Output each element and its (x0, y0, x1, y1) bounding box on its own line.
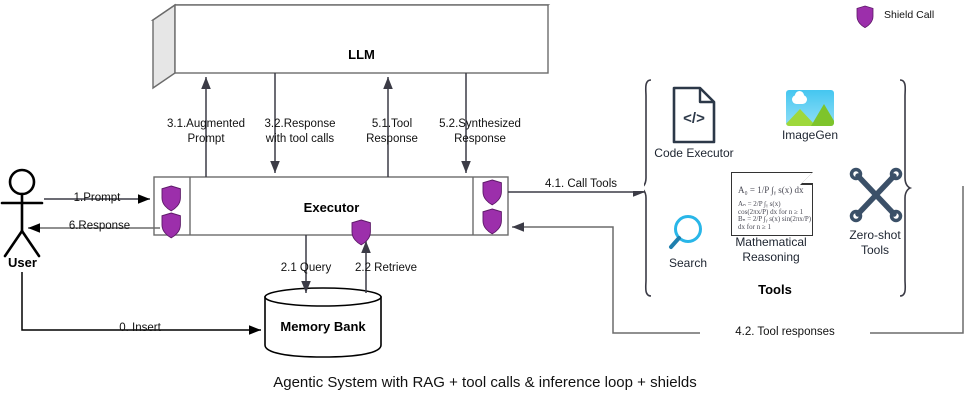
magnifier-icon[interactable] (671, 217, 701, 248)
shield-icon-retrieve[interactable] (352, 220, 370, 245)
page-fold-inner (802, 172, 813, 183)
math-formula-2: Aₙ = 2/P ∫ᵧ s(x) cos(2πx/P) dx for n ≥ 1 (738, 200, 812, 216)
llm-label: LLM (175, 47, 548, 62)
code-document-icon[interactable]: </> (674, 88, 714, 142)
executor-label: Executor (190, 200, 473, 215)
tool-label-code-executor: Code Executor (644, 146, 744, 160)
edge-label-tool-responses: 4.2. Tool responses (700, 326, 870, 339)
math-page-icon[interactable]: A₀ = 1/P ∫ᵧ s(x) dx Aₙ = 2/P ∫ᵧ s(x) cos… (731, 172, 813, 236)
edge-label-call-tools: 4.1. Call Tools (518, 178, 644, 191)
tool-label-math-2: Reasoning (721, 250, 821, 264)
edge-label-synth-2: Response (416, 133, 544, 146)
user-label: User (0, 255, 45, 270)
shield-icon-legend (857, 6, 873, 28)
edge-label-synth-1: 5.2.Synthesized (416, 118, 544, 131)
math-formula-3: Bₙ = 2/P ∫ᵧ s(x) sin(2πx/P) dx for n ≥ 1 (738, 215, 812, 231)
edge-label-response: 6.Response (42, 220, 157, 233)
user-actor[interactable] (2, 170, 42, 256)
memory-bank-label: Memory Bank (265, 319, 381, 334)
svg-text:</>: </> (683, 110, 705, 127)
cloud-shape (792, 95, 807, 104)
edge-label-insert: 0. Insert (60, 322, 220, 335)
legend-shield-label: Shield Call (884, 9, 934, 21)
tool-label-search: Search (648, 256, 728, 270)
tool-label-math-1: Mathematical (721, 235, 821, 249)
diagram-canvas: </> (0, 0, 970, 411)
tool-label-imagegen: ImageGen (760, 128, 860, 142)
tools-group-label: Tools (700, 282, 850, 297)
tools-brace-right (900, 80, 910, 296)
tool-label-zeroshot-1: Zero-shot (832, 228, 918, 242)
math-formula-1: A₀ = 1/P ∫ᵧ s(x) dx (738, 185, 803, 195)
crossed-wrenches-icon[interactable] (852, 170, 901, 221)
tool-label-zeroshot-2: Tools (832, 243, 918, 257)
edge-label-prompt: 1.Prompt (42, 192, 152, 205)
image-icon[interactable] (786, 90, 834, 126)
diagram-caption: Agentic System with RAG + tool calls & i… (0, 374, 970, 391)
edge-label-retrieve: 2.2 Retrieve (336, 262, 436, 275)
mountain-shape-2 (811, 104, 834, 126)
